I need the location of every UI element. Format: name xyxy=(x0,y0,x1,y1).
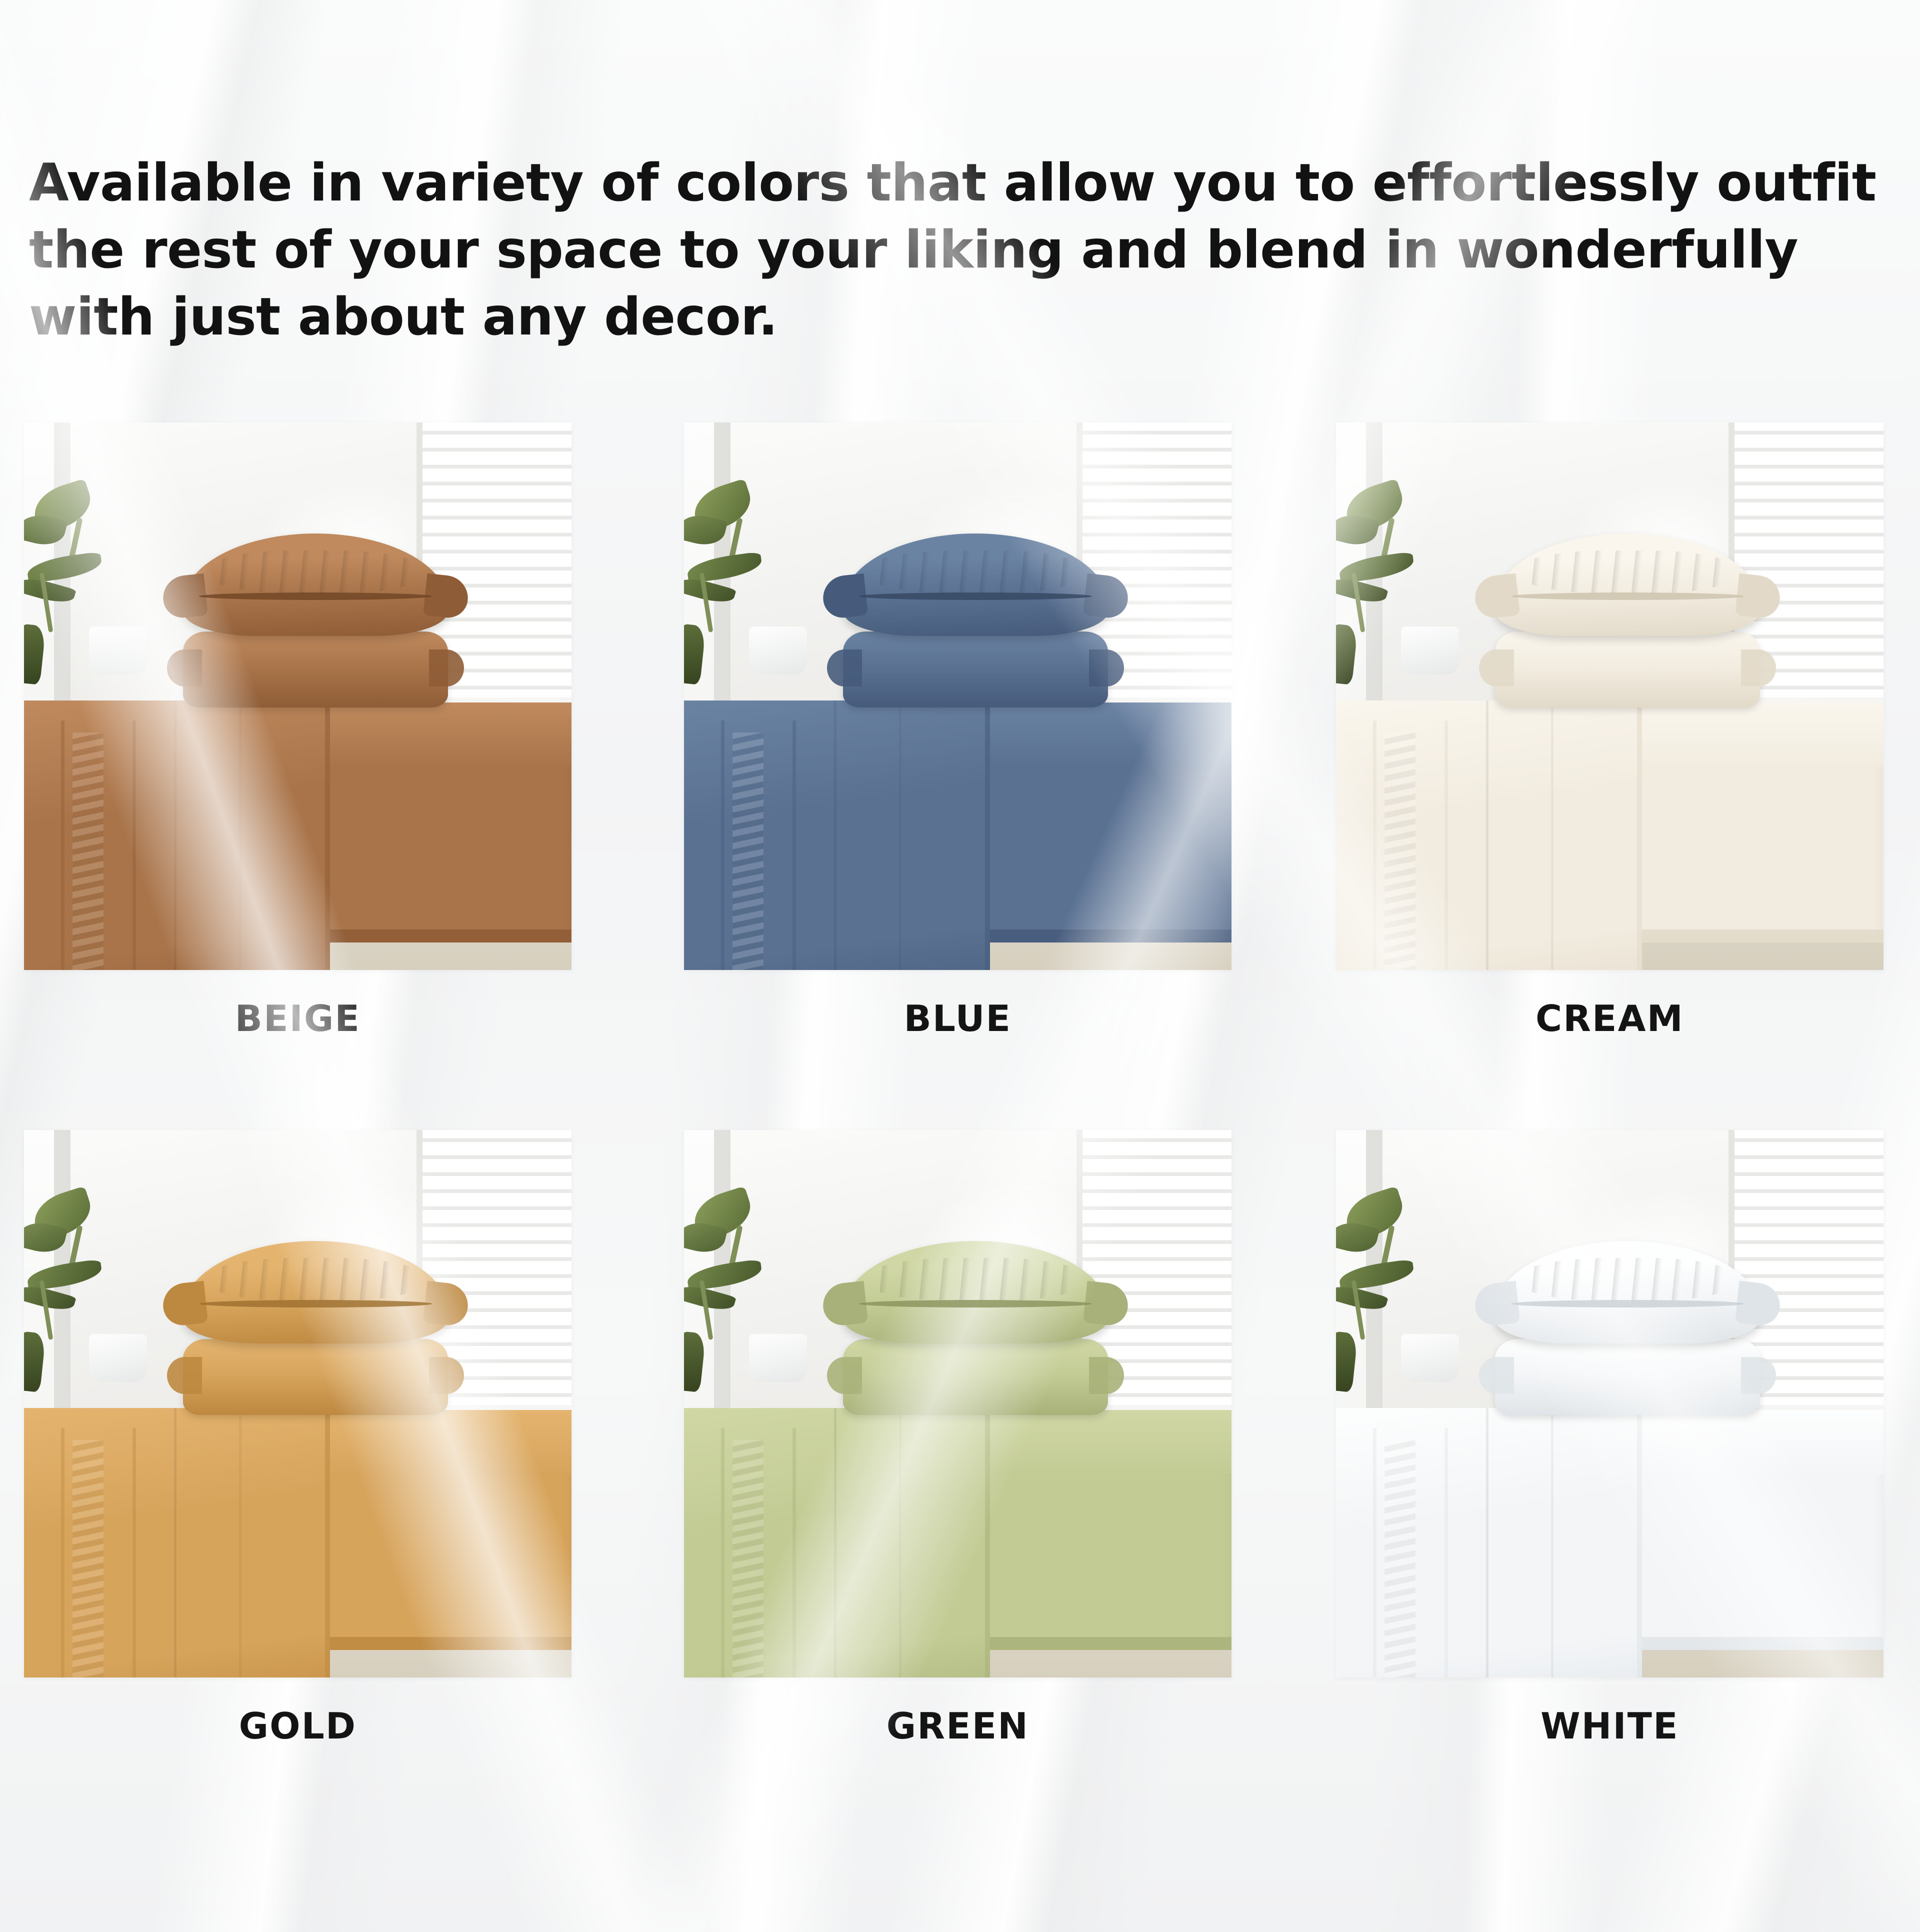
pillow-gathers xyxy=(210,1258,421,1301)
pillow-stack xyxy=(1495,1241,1760,1421)
swatch-beige[interactable]: BEIGE xyxy=(24,422,571,970)
pillow-bottom xyxy=(183,631,448,707)
product-color-variety-page: Available in variety of colors that allo… xyxy=(0,0,1920,1932)
swatch-label: WHITE xyxy=(1336,1705,1883,1747)
sheet-crease xyxy=(239,700,241,970)
hemstitch-band xyxy=(61,720,136,970)
sheet-crease xyxy=(1551,1408,1553,1677)
pillow-stack xyxy=(183,1241,448,1421)
swatch-photo[interactable] xyxy=(684,422,1231,970)
vase xyxy=(749,1334,807,1382)
sheet-crease xyxy=(834,1408,836,1677)
pillow-bottom xyxy=(843,1339,1108,1415)
vase xyxy=(1401,1334,1459,1382)
pillow-stack xyxy=(183,533,448,713)
swatch-cream[interactable]: CREAM xyxy=(1336,422,1883,970)
vase xyxy=(89,626,147,674)
pillow-bottom xyxy=(183,1339,448,1415)
pillow-bottom xyxy=(1495,631,1760,707)
sheet-crease xyxy=(899,1408,901,1677)
pillow-bottom xyxy=(843,631,1108,707)
hemstitch-band xyxy=(1373,720,1448,970)
pillow-seam xyxy=(199,1300,432,1307)
sheet-crease xyxy=(899,700,901,970)
pillow-gathers xyxy=(1522,1258,1733,1301)
swatch-label: GOLD xyxy=(24,1705,571,1747)
swatch-label: BEIGE xyxy=(24,997,571,1039)
sheet-crease xyxy=(174,1408,176,1677)
swatch-green[interactable]: GREEN xyxy=(684,1130,1231,1677)
vase xyxy=(1401,626,1459,674)
sheet-crease xyxy=(1486,1408,1488,1677)
page-headline: Available in variety of colors that allo… xyxy=(29,150,1889,351)
hemstitch-band xyxy=(721,720,796,970)
vase xyxy=(89,1334,147,1382)
vase xyxy=(749,626,807,674)
pillow-stack xyxy=(843,1241,1108,1421)
pillow-seam xyxy=(859,592,1092,600)
pillow-gathers xyxy=(870,1258,1081,1301)
swatch-label: BLUE xyxy=(684,997,1231,1039)
sheet-crease xyxy=(1486,700,1488,970)
pillow-seam xyxy=(199,592,432,600)
pillow-stack xyxy=(843,533,1108,713)
pillow-gathers xyxy=(1522,550,1733,593)
swatch-photo[interactable] xyxy=(24,422,571,970)
pillow-seam xyxy=(1511,592,1744,600)
swatch-label: GREEN xyxy=(684,1705,1231,1747)
hemstitch-band xyxy=(721,1428,796,1677)
pillow-gathers xyxy=(870,550,1081,593)
sheet-crease xyxy=(174,700,176,970)
pillow-stack xyxy=(1495,533,1760,713)
swatch-photo[interactable] xyxy=(1336,1130,1883,1677)
color-swatch-grid: BEIGE xyxy=(0,422,1920,1837)
swatch-photo[interactable] xyxy=(684,1130,1231,1677)
swatch-photo[interactable] xyxy=(1336,422,1883,970)
pillow-seam xyxy=(1511,1300,1744,1307)
pillow-gathers xyxy=(210,550,421,593)
swatch-row-1: BEIGE xyxy=(0,422,1920,1130)
swatch-gold[interactable]: GOLD xyxy=(24,1130,571,1677)
hemstitch-band xyxy=(1373,1428,1448,1677)
hemstitch-band xyxy=(61,1428,136,1677)
pillow-bottom xyxy=(1495,1339,1760,1415)
swatch-label: CREAM xyxy=(1336,997,1883,1039)
sheet-crease xyxy=(1551,700,1553,970)
swatch-blue[interactable]: BLUE xyxy=(684,422,1231,970)
sheet-crease xyxy=(239,1408,241,1677)
swatch-white[interactable]: WHITE xyxy=(1336,1130,1883,1677)
pillow-seam xyxy=(859,1300,1092,1307)
swatch-row-2: GOLD xyxy=(0,1130,1920,1837)
swatch-photo[interactable] xyxy=(24,1130,571,1677)
sheet-crease xyxy=(834,700,836,970)
